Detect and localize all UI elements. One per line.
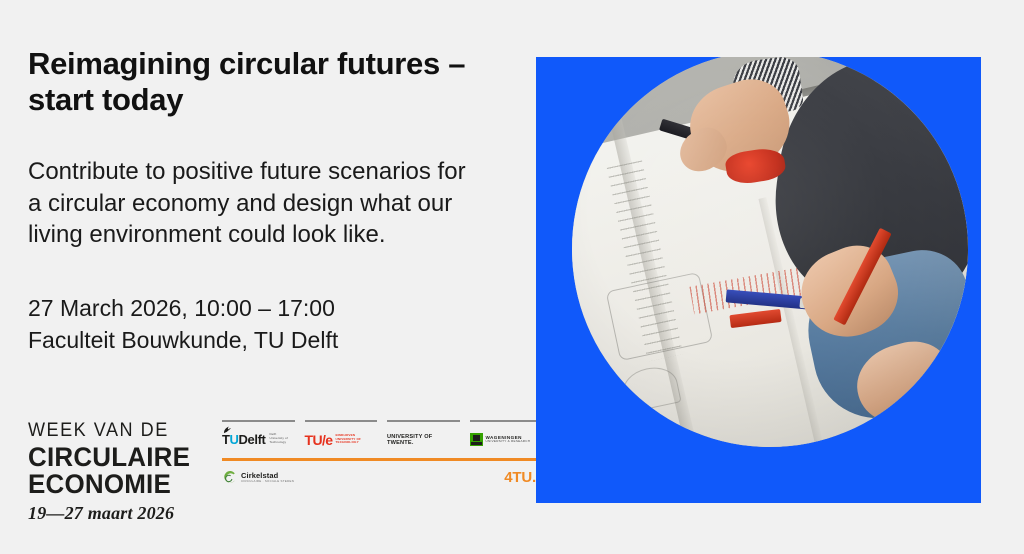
partner-wageningen: WAGENINGEN UNIVERSITY & RESEARCH [470,420,543,450]
wageningen-logo: WAGENINGEN UNIVERSITY & RESEARCH [470,433,531,446]
cirkelstad-logo: Cirkelstad CIRCULAIRE . SOCIALE STEDEN [222,470,294,485]
twente-wordmark: UNIVERSITY OF TWENTE. [387,434,460,446]
body-copy: Contribute to positive future scenarios … [28,156,483,251]
circular-photo [572,57,968,447]
wvce-line-2: CIRCULAIRE [28,444,195,471]
divider-rule [470,420,543,422]
event-datetime: 27 March 2026, 10:00 – 17:00 [28,293,498,325]
wageningen-mark-icon [470,433,483,446]
week-van-de-circulaire-economie-logo: WEEK VAN DE CIRCULAIRE ECONOMIE 19—27 ma… [28,418,198,524]
photo-scene [572,57,968,447]
partner-row-secondary: Cirkelstad CIRCULAIRE . SOCIALE STEDEN 4… [222,468,542,488]
tu-delft-flame-icon [223,426,232,434]
wageningen-subtitle: UNIVERSITY & RESEARCH [486,440,531,444]
wvce-dates: 19—27 maart 2026 [28,503,198,524]
fourtu-wordmark: 4TU. [504,469,536,486]
partner-tu-eindhoven: TU/e EINDHOVEN UNIVERSITY OF TECHNOLOGY [305,420,378,450]
wvce-line-3: ECONOMIE [28,471,195,498]
tu-delft-wordmark: TUDelft [222,433,265,446]
logo-lockup: WEEK VAN DE CIRCULAIRE ECONOMIE 19—27 ma… [28,418,542,524]
tu-delft-subtitle: Delft University of Technology [269,433,287,446]
tu-delft-logo: TUDelft Delft University of Technology [222,433,288,446]
tue-wordmark: TU/e [305,433,333,447]
tue-subtitle: EINDHOVEN UNIVERSITY OF TECHNOLOGY [335,434,361,445]
tue-logo: TU/e EINDHOVEN UNIVERSITY OF TECHNOLOGY [305,433,362,447]
divider-rule-orange [222,458,542,461]
partner-row-universities: TUDelft Delft University of Technology [222,420,542,450]
divider-rule [387,420,460,422]
event-details: 27 March 2026, 10:00 – 17:00 Faculteit B… [28,293,498,356]
wvce-line-1: WEEK VAN DE [28,420,190,442]
image-panel [536,57,981,503]
cirkelstad-subtitle: CIRCULAIRE . SOCIALE STEDEN [241,480,294,483]
partner-tu-delft: TUDelft Delft University of Technology [222,420,295,450]
page-title: Reimagining circular futures – start tod… [28,46,478,118]
event-location: Faculteit Bouwkunde, TU Delft [28,325,498,357]
cirkelstad-swirl-icon [222,470,237,485]
divider-rule [305,420,378,422]
partner-university-of-twente: UNIVERSITY OF TWENTE. [387,420,460,450]
partner-logos: TUDelft Delft University of Technology [222,418,542,488]
divider-rule [222,420,295,422]
poster-canvas: Reimagining circular futures – start tod… [0,0,1024,554]
